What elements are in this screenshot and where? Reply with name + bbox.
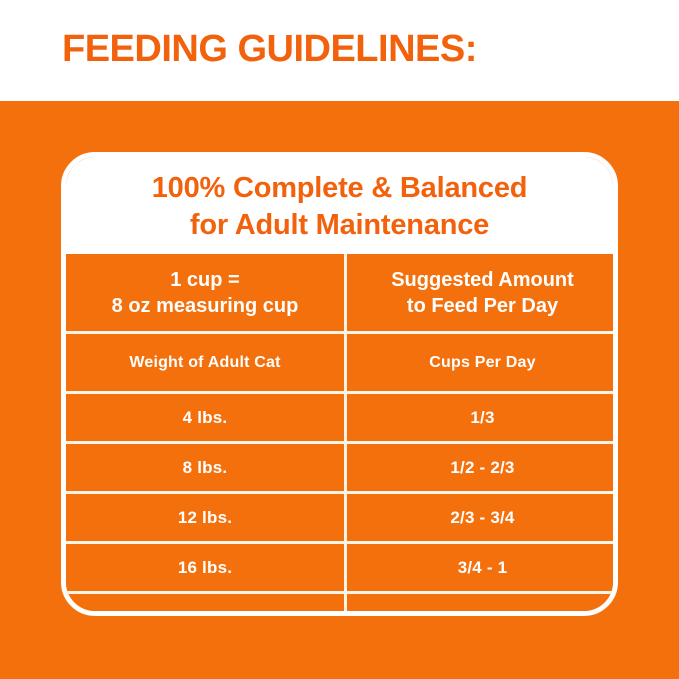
- table-row: 16 lbs. 3/4 - 1: [66, 543, 618, 593]
- card-title-line-1: 100% Complete & Balanced: [152, 170, 528, 207]
- measure-cup-line-1: 1 cup =: [66, 267, 344, 293]
- table-row-measure-header: 1 cup = 8 oz measuring cup Suggested Amo…: [66, 254, 618, 333]
- cell-cups: 3/4 - 1: [346, 543, 619, 593]
- table-row: 22 lbs. 1 - 1 1/4: [66, 593, 618, 617]
- cell-weight: 4 lbs.: [66, 393, 346, 443]
- cell-cups: 1 - 1 1/4: [346, 593, 619, 617]
- cell-weight: 8 lbs.: [66, 443, 346, 493]
- card-title-line-2: for Adult Maintenance: [190, 207, 489, 244]
- column-header-weight: Weight of Adult Cat: [66, 333, 346, 393]
- card-title-block: 100% Complete & Balanced for Adult Maint…: [66, 157, 613, 254]
- cell-cups: 1/3: [346, 393, 619, 443]
- measure-cup-line-2: 8 oz measuring cup: [66, 293, 344, 319]
- cell-weight: 22 lbs.: [66, 593, 346, 617]
- feeding-guidelines-panel: FEEDING GUIDELINES: 100% Complete & Bala…: [0, 0, 679, 679]
- page-title: FEEDING GUIDELINES:: [62, 26, 477, 72]
- cell-weight: 16 lbs.: [66, 543, 346, 593]
- table-row: 8 lbs. 1/2 - 2/3: [66, 443, 618, 493]
- table-row: 4 lbs. 1/3: [66, 393, 618, 443]
- cell-weight: 12 lbs.: [66, 493, 346, 543]
- measure-cup-cell: 1 cup = 8 oz measuring cup: [66, 254, 346, 333]
- suggested-amount-cell: Suggested Amount to Feed Per Day: [346, 254, 619, 333]
- table-row-column-headers: Weight of Adult Cat Cups Per Day: [66, 333, 618, 393]
- feeding-table: 1 cup = 8 oz measuring cup Suggested Amo…: [66, 254, 618, 616]
- suggested-amount-line-2: to Feed Per Day: [347, 293, 618, 319]
- cell-cups: 2/3 - 3/4: [346, 493, 619, 543]
- feeding-guidelines-card: 100% Complete & Balanced for Adult Maint…: [61, 152, 618, 616]
- suggested-amount-line-1: Suggested Amount: [347, 267, 618, 293]
- cell-cups: 1/2 - 2/3: [346, 443, 619, 493]
- table-row: 12 lbs. 2/3 - 3/4: [66, 493, 618, 543]
- column-header-cups: Cups Per Day: [346, 333, 619, 393]
- header-band: FEEDING GUIDELINES:: [0, 0, 679, 101]
